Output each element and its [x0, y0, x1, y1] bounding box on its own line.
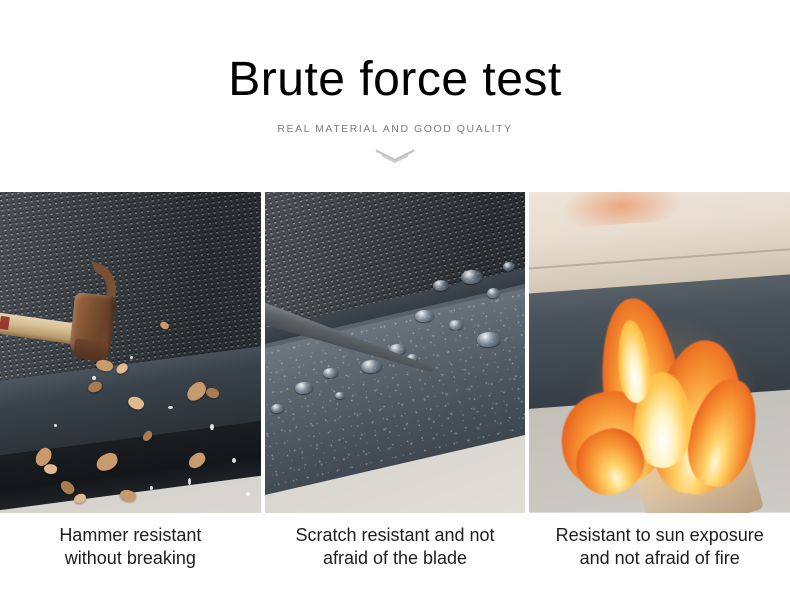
chevron-down-icon — [373, 148, 417, 164]
page-title: Brute force test — [0, 55, 790, 106]
panel-fire-test — [529, 192, 790, 513]
brute-force-test-banner: Brute force test REAL MATERIAL AND GOOD … — [0, 0, 790, 602]
caption-hammer-test: Hammer resistant without breaking — [0, 513, 261, 602]
caption-line-1: Hammer resistant — [0, 524, 261, 547]
caption-line-1: Scratch resistant and not — [265, 524, 526, 547]
test-panels — [0, 192, 790, 513]
panel-hammer-test — [0, 192, 261, 513]
header: Brute force test REAL MATERIAL AND GOOD … — [0, 0, 790, 164]
caption-line-2: afraid of the blade — [265, 547, 526, 570]
page-subtitle: REAL MATERIAL AND GOOD QUALITY — [0, 123, 790, 135]
hammer-face — [73, 338, 109, 362]
caption-fire-test: Resistant to sun exposure and not afraid… — [529, 513, 790, 602]
caption-scratch-test: Scratch resistant and not afraid of the … — [265, 513, 526, 602]
panel-scratch-test — [265, 192, 526, 513]
chevron-divider — [0, 148, 790, 164]
hammer-icon — [0, 280, 144, 358]
panel-captions: Hammer resistant without breaking Scratc… — [0, 513, 790, 602]
caption-line-2: and not afraid of fire — [529, 547, 790, 570]
caption-line-2: without breaking — [0, 547, 261, 570]
caption-line-1: Resistant to sun exposure — [529, 524, 790, 547]
